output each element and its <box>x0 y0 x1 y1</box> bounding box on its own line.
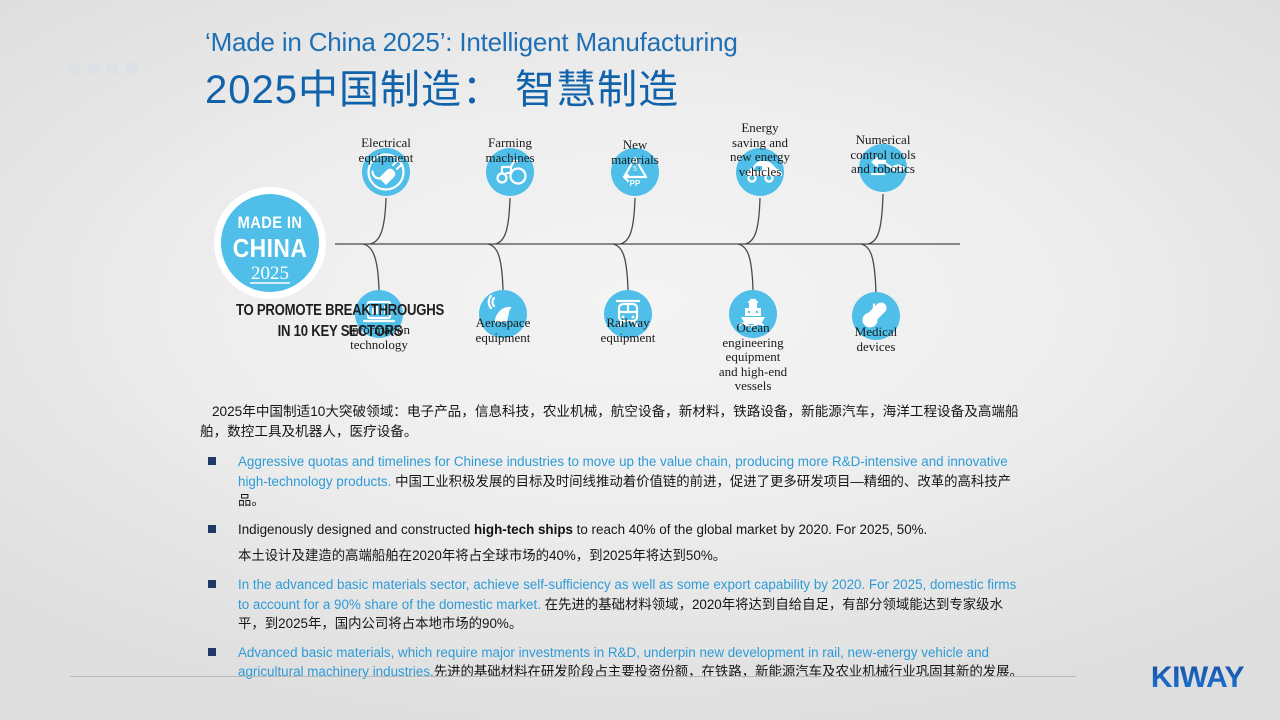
bullet-text: Aggressive quotas and timelines for Chin… <box>238 452 1028 511</box>
badge-line-3: 2025 <box>251 263 289 284</box>
bullet-marker-icon <box>208 580 216 588</box>
node-label-information-technology: Informationtechnology <box>314 323 444 352</box>
node-label-numerical-control-robotics: Numericalcontrol toolsand robotics <box>818 133 948 177</box>
bullet-item: In the advanced basic materials sector, … <box>200 575 1028 634</box>
slide-title-chinese: 2025中国制造： 智慧制造 <box>205 57 679 115</box>
brand-logo: KIWAY <box>1151 661 1244 695</box>
bullet-text-en-pre: Indigenously designed and constructed <box>238 522 474 537</box>
node-label-new-materials: Newmaterials <box>570 138 700 167</box>
bullet-text-cn: 先进的基础材料在研发阶段占主要投资份额，在铁路，新能源汽车及农业机械行业巩固其新… <box>434 664 1023 679</box>
node-label-new-energy-vehicles: Energysaving andnew energyvehicles <box>695 121 825 179</box>
badge-line-2: CHINA <box>233 235 308 264</box>
node-label-railway-equipment: Railwayequipment <box>563 316 693 345</box>
made-in-china-badge: MADE IN CHINA 2025 <box>214 187 326 299</box>
decorative-dot <box>106 62 119 75</box>
node-label-ocean-engineering: Oceanengineeringequipmentand high-endves… <box>688 321 818 394</box>
bullet-item: Aggressive quotas and timelines for Chin… <box>200 452 1028 511</box>
decorative-dot <box>125 62 138 75</box>
svg-text:PP: PP <box>630 179 641 188</box>
bullet-marker-icon <box>208 648 216 656</box>
footer-divider <box>70 676 1076 677</box>
badge-subtitle-line-1: TO PROMOTE BREAKTHROUGHS <box>225 300 455 321</box>
node-label-medical-devices: Medicaldevices <box>811 325 941 354</box>
infographic: .circ { fill: #4fbee8; } .ico { fill: no… <box>200 118 990 383</box>
slide-title-english: ‘Made in China 2025’: Intelligent Manufa… <box>205 27 738 58</box>
svg-text:5: 5 <box>633 166 637 173</box>
node-label-electrical-equipment: Electricalequipment <box>321 136 451 165</box>
bullet-text-en-post: to reach 40% of the global market by 202… <box>573 522 927 537</box>
decorative-dot <box>68 62 81 75</box>
bullet-marker-icon <box>208 525 216 533</box>
badge-line-1: MADE IN <box>238 214 303 232</box>
bullet-text: Indigenously designed and constructed hi… <box>238 520 1028 566</box>
bullet-text-cn: 本土设计及建造的高端船舶在2020年将占全球市场的40%，到2025年将达到50… <box>238 546 1028 566</box>
decorative-dots <box>68 62 138 75</box>
intro-paragraph: 2025年中国制适10大突破领域：电子产品，信息科技，农业机械，航空设备，新材料… <box>200 402 1028 441</box>
bullet-marker-icon <box>208 457 216 465</box>
bullet-item: Indigenously designed and constructed hi… <box>200 520 1028 566</box>
body-content: 2025年中国制适10大突破领域：电子产品，信息科技，农业机械，航空设备，新材料… <box>200 402 1028 691</box>
node-label-aerospace-equipment: Aerospaceequipment <box>438 316 568 345</box>
bullet-text: In the advanced basic materials sector, … <box>238 575 1028 634</box>
bullet-text-en-bold: high-tech ships <box>474 522 573 537</box>
node-label-farming-machines: Farmingmachines <box>445 136 575 165</box>
decorative-dot <box>87 62 100 75</box>
